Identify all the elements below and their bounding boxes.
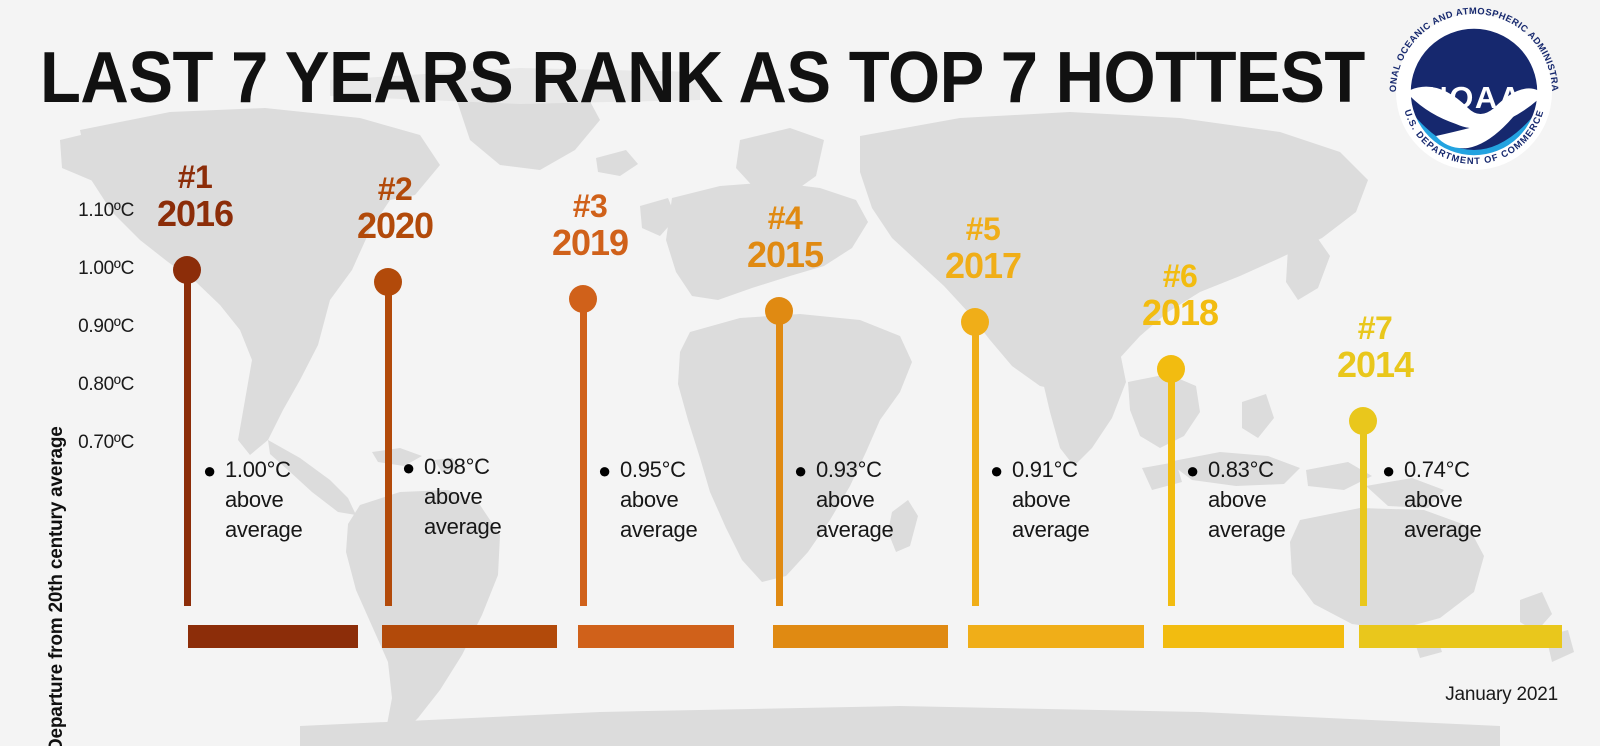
lollipop-dot-6[interactable] — [1157, 355, 1185, 383]
y-axis-tick-1: 1.00ºC — [0, 258, 134, 280]
value-label-7: 0.74°C — [1404, 455, 1481, 485]
lollipop-dot-5[interactable] — [961, 308, 989, 336]
year-label-4: 2015 — [724, 237, 846, 273]
noaa-logo: NOAA NATIONAL OCEANIC AND ATMOSPHERIC AD… — [1372, 4, 1590, 174]
rank-label-5: #5 — [928, 212, 1038, 246]
value-sublabel-above-3: above — [620, 485, 697, 515]
value-sublabel-above-7: above — [1404, 485, 1481, 515]
color-bar-2 — [382, 625, 557, 648]
value-annotation-1: ●1.00°Caboveaverage — [225, 455, 302, 545]
value-sublabel-above-6: above — [1208, 485, 1285, 515]
value-sublabel-average-1: average — [225, 515, 302, 545]
lollipop-stem-2 — [385, 282, 392, 606]
value-sublabel-average-6: average — [1208, 515, 1285, 545]
value-annotation-2: ●0.98°Caboveaverage — [424, 452, 501, 542]
bullet-icon: ● — [203, 456, 216, 486]
year-label-6: 2018 — [1119, 295, 1241, 331]
year-label-5: 2017 — [922, 248, 1044, 284]
value-label-3: 0.95°C — [620, 455, 697, 485]
rank-label-4: #4 — [730, 201, 840, 235]
value-sublabel-average-4: average — [816, 515, 893, 545]
value-label-1: 1.00°C — [225, 455, 302, 485]
bullet-icon: ● — [1382, 456, 1395, 486]
color-bar-4 — [773, 625, 948, 648]
value-sublabel-average-5: average — [1012, 515, 1089, 545]
value-annotation-5: ●0.91°Caboveaverage — [1012, 455, 1089, 545]
year-label-1: 2016 — [134, 196, 256, 232]
bullet-icon: ● — [794, 456, 807, 486]
value-annotation-4: ●0.93°Caboveaverage — [816, 455, 893, 545]
value-sublabel-average-2: average — [424, 512, 501, 542]
value-sublabel-average-3: average — [620, 515, 697, 545]
lollipop-dot-7[interactable] — [1349, 407, 1377, 435]
lollipop-stem-1 — [184, 270, 191, 606]
y-axis-ticks: 1.10ºC1.00ºC0.90ºC0.80ºC0.70ºC — [0, 0, 140, 746]
rank-label-2: #2 — [340, 172, 450, 206]
value-label-6: 0.83°C — [1208, 455, 1285, 485]
rank-label-7: #7 — [1320, 311, 1430, 345]
bullet-icon: ● — [990, 456, 1003, 486]
value-label-5: 0.91°C — [1012, 455, 1089, 485]
lollipop-stem-3 — [580, 299, 587, 606]
bullet-icon: ● — [402, 453, 415, 483]
lollipop-dot-4[interactable] — [765, 297, 793, 325]
noaa-wordmark: NOAA — [1425, 80, 1522, 115]
color-bar-6 — [1163, 625, 1344, 648]
page-title: LAST 7 YEARS RANK AS TOP 7 HOTTEST — [40, 42, 1365, 114]
value-sublabel-average-7: average — [1404, 515, 1481, 545]
value-annotation-3: ●0.95°Caboveaverage — [620, 455, 697, 545]
value-annotation-6: ●0.83°Caboveaverage — [1208, 455, 1285, 545]
rank-label-6: #6 — [1125, 259, 1235, 293]
lollipop-stem-6 — [1168, 369, 1175, 606]
rank-label-1: #1 — [140, 160, 250, 194]
year-label-2: 2020 — [334, 208, 456, 244]
value-sublabel-above-5: above — [1012, 485, 1089, 515]
lollipop-stem-5 — [972, 322, 979, 606]
year-label-3: 2019 — [529, 225, 651, 261]
lollipop-dot-3[interactable] — [569, 285, 597, 313]
value-sublabel-above-4: above — [816, 485, 893, 515]
value-sublabel-above-1: above — [225, 485, 302, 515]
infographic-canvas: LAST 7 YEARS RANK AS TOP 7 HOTTEST NOAA … — [0, 0, 1600, 746]
color-bar-3 — [578, 625, 734, 648]
lollipop-dot-1[interactable] — [173, 256, 201, 284]
value-label-2: 0.98°C — [424, 452, 501, 482]
y-axis-tick-4: 0.70ºC — [0, 432, 134, 454]
color-bar-5 — [968, 625, 1144, 648]
color-bar-1 — [188, 625, 358, 648]
year-label-7: 2014 — [1314, 347, 1436, 383]
rank-label-3: #3 — [535, 189, 645, 223]
date-stamp: January 2021 — [1445, 684, 1558, 706]
y-axis-tick-0: 1.10ºC — [0, 200, 134, 222]
y-axis-tick-3: 0.80ºC — [0, 374, 134, 396]
value-sublabel-above-2: above — [424, 482, 501, 512]
bullet-icon: ● — [598, 456, 611, 486]
lollipop-dot-2[interactable] — [374, 268, 402, 296]
color-bar-7 — [1359, 625, 1562, 648]
value-label-4: 0.93°C — [816, 455, 893, 485]
bullet-icon: ● — [1186, 456, 1199, 486]
lollipop-stem-7 — [1360, 421, 1367, 606]
y-axis-tick-2: 0.90ºC — [0, 316, 134, 338]
lollipop-stem-4 — [776, 311, 783, 606]
value-annotation-7: ●0.74°Caboveaverage — [1404, 455, 1481, 545]
